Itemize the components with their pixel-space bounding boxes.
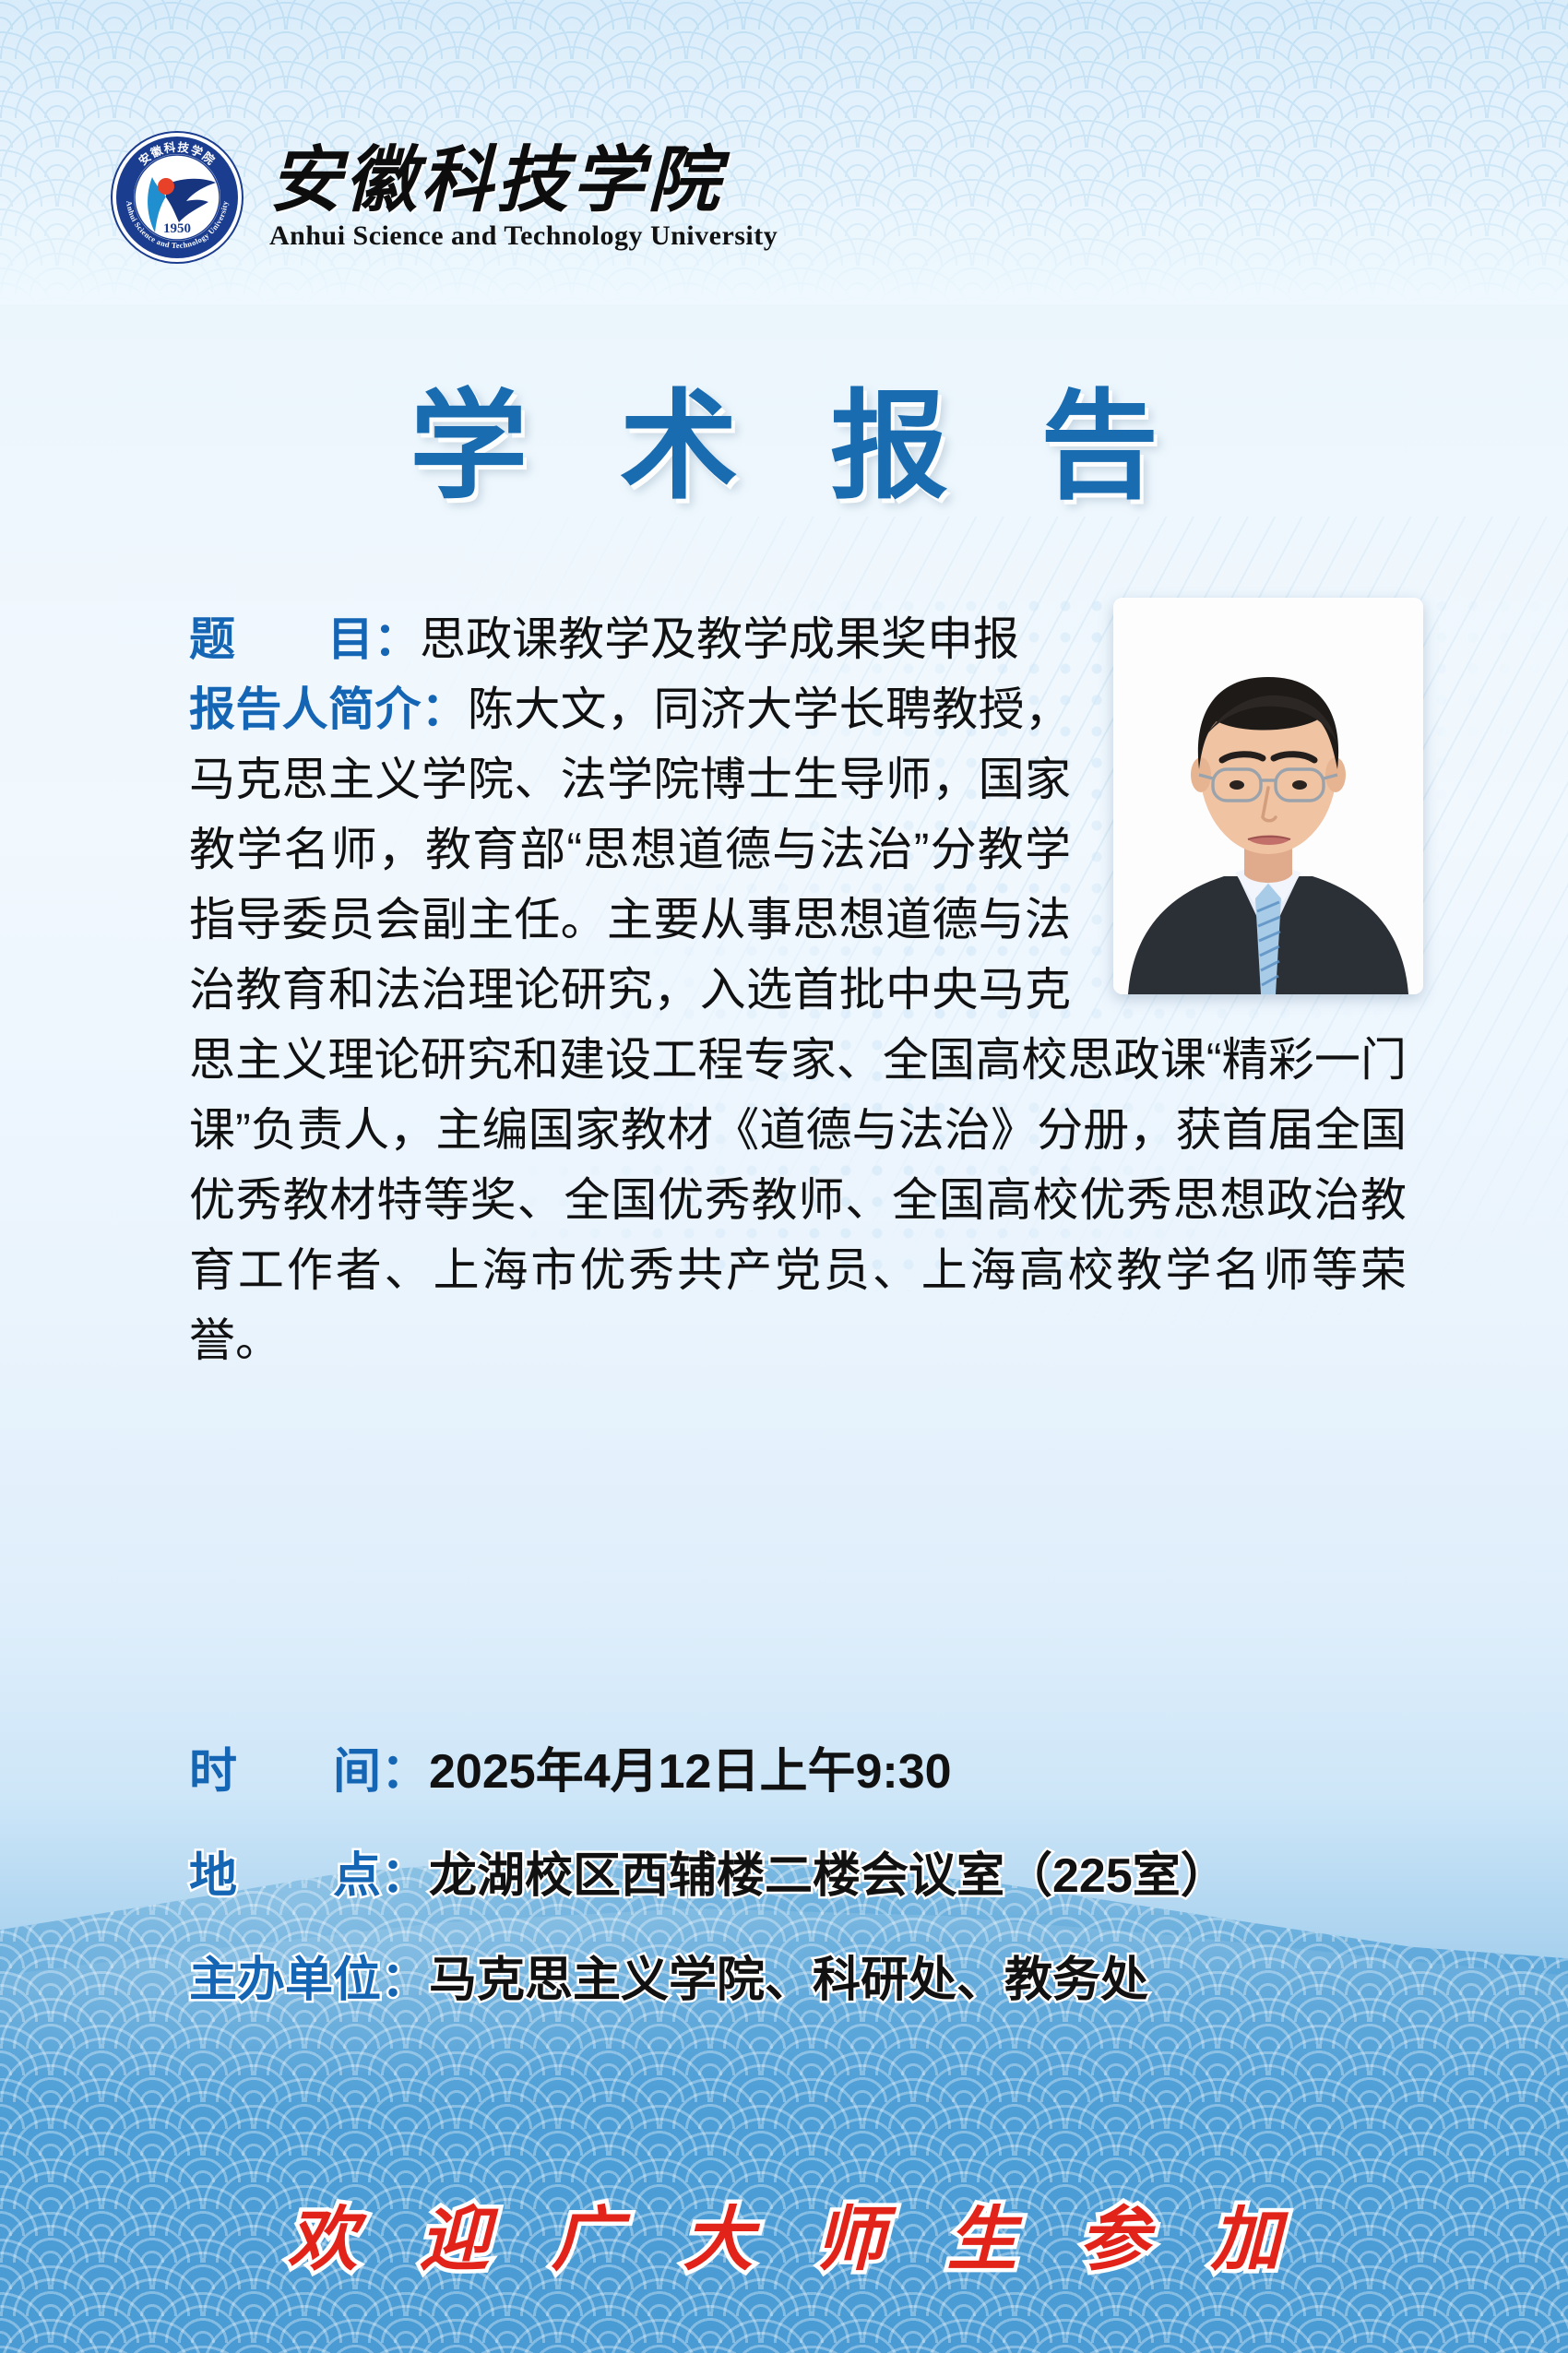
topic-label: 题 目：: [189, 613, 420, 665]
host-label: 主办单位：: [189, 1954, 429, 2007]
poster-header: 1950 安徽科技学院 Anhui Science and Technology…: [109, 129, 778, 266]
svg-text:1950: 1950: [163, 221, 191, 236]
place-label: 地 点：: [189, 1849, 429, 1903]
portrait-text-wrap-spacer: [1084, 604, 1407, 1001]
welcome-slogan: 欢 迎 广 大 师 生 参 加: [0, 2182, 1568, 2284]
time-label: 时 间：: [189, 1745, 429, 1799]
topic-value: 思政课教学及教学成果奖申报: [420, 613, 1019, 665]
bio-label: 报告人简介：: [189, 683, 468, 735]
university-name-cn: 安徽科技学院: [269, 143, 778, 219]
poster-body: 题 目：思政课教学及教学成果奖申报 报告人简介：陈大文，同济大学长聘教授，马克思…: [189, 604, 1407, 1375]
host-value: 马克思主义学院、科研处、教务处: [429, 1954, 1148, 2007]
place-value: 龙湖校区西辅楼二楼会议室（225室）: [429, 1849, 1229, 1903]
poster-canvas: 1950 安徽科技学院 Anhui Science and Technology…: [0, 0, 1568, 2353]
time-line: 时 间：2025年4月12日上午9:30: [189, 1743, 1480, 1800]
brand-names: 安徽科技学院 Anhui Science and Technology Univ…: [269, 143, 778, 252]
university-logo-icon: 1950 安徽科技学院 Anhui Science and Technology…: [109, 129, 245, 266]
host-line: 主办单位：马克思主义学院、科研处、教务处: [189, 1952, 1480, 2009]
time-value: 2025年4月12日上午9:30: [429, 1745, 952, 1799]
place-line: 地 点：龙湖校区西辅楼二楼会议室（225室）: [189, 1848, 1480, 1905]
university-name-en: Anhui Science and Technology University: [269, 220, 778, 252]
page-title: 学 术 报 告: [0, 351, 1568, 521]
